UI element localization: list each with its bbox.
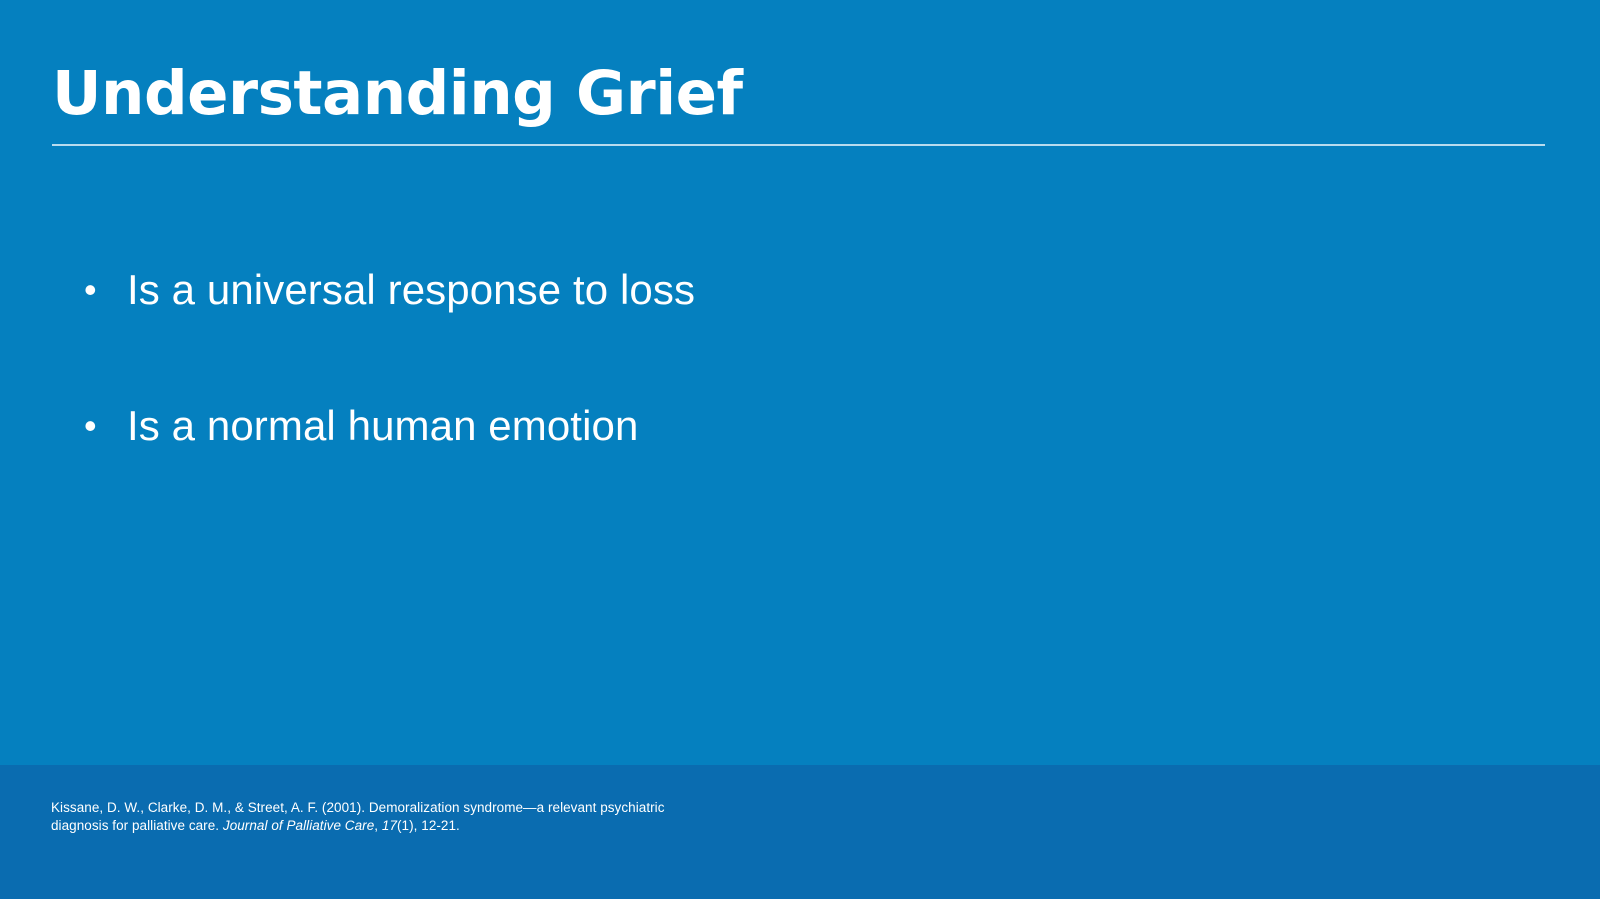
- page-title: Understanding Grief: [52, 62, 1545, 126]
- list-item: • Is a universal response to loss: [74, 258, 1474, 322]
- footer-band: Kissane, D. W., Clarke, D. M., & Street,…: [0, 765, 1600, 899]
- citation-part-2: ,: [374, 818, 382, 833]
- title-divider-rule: [52, 144, 1545, 146]
- bullet-text: Is a normal human emotion: [127, 394, 1474, 458]
- bullet-point-icon: •: [74, 258, 127, 322]
- bullet-list: • Is a universal response to loss • Is a…: [74, 258, 1474, 530]
- citation-reference: Kissane, D. W., Clarke, D. M., & Street,…: [51, 799, 671, 835]
- citation-part-3: (1), 12-21.: [397, 818, 460, 833]
- bullet-point-icon: •: [74, 394, 127, 458]
- list-item: • Is a normal human emotion: [74, 394, 1474, 458]
- citation-journal-name: Journal of Palliative Care: [223, 818, 374, 833]
- title-block: Understanding Grief: [52, 62, 1545, 146]
- bullet-text: Is a universal response to loss: [127, 258, 1474, 322]
- citation-volume: 17: [382, 818, 397, 833]
- presentation-slide: Understanding Grief • Is a universal res…: [0, 0, 1600, 899]
